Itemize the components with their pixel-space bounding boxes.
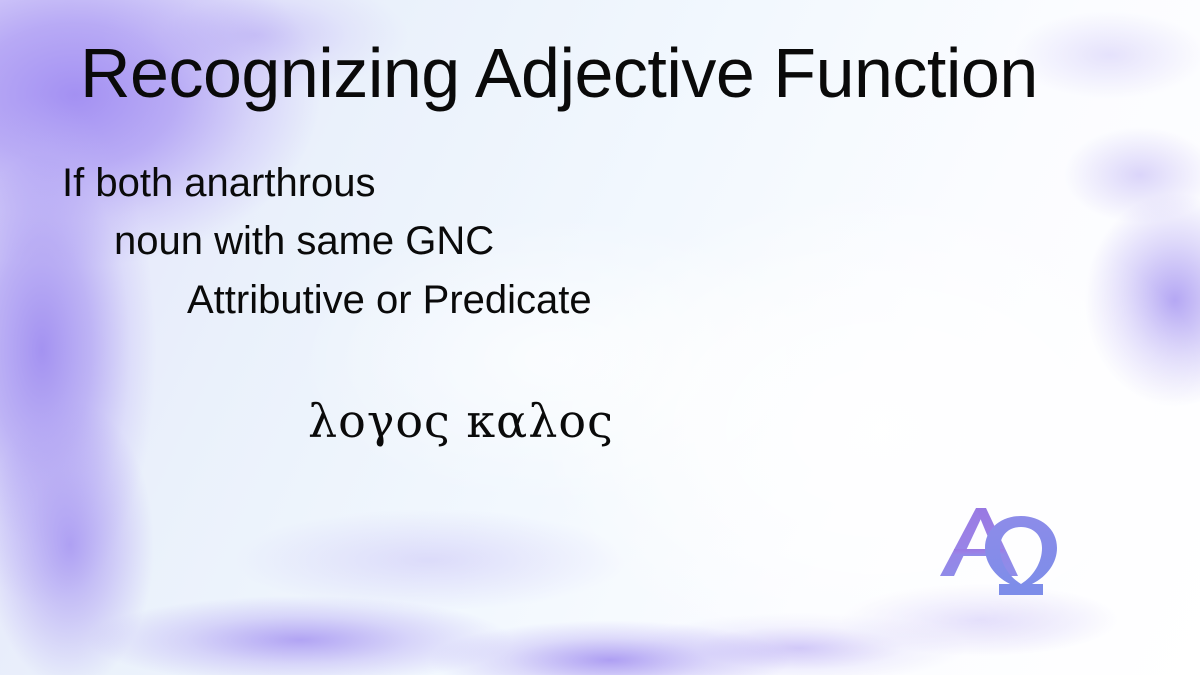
body-line-condition: If both anarthrous [62,163,376,203]
slide-title: Recognizing Adjective Function [80,38,1038,108]
logo-omega-glyph [985,516,1057,595]
logo-alpha-glyph [940,508,1018,576]
presentation-slide: Recognizing Adjective Function If both a… [0,0,1200,675]
slide-content: Recognizing Adjective Function If both a… [0,0,1200,675]
body-line-result: Attributive or Predicate [187,280,592,320]
body-line-noun-agreement: noun with same GNC [114,221,494,261]
alpha-omega-logo-icon [936,492,1068,608]
greek-example-text: λογος καλος [308,398,614,444]
